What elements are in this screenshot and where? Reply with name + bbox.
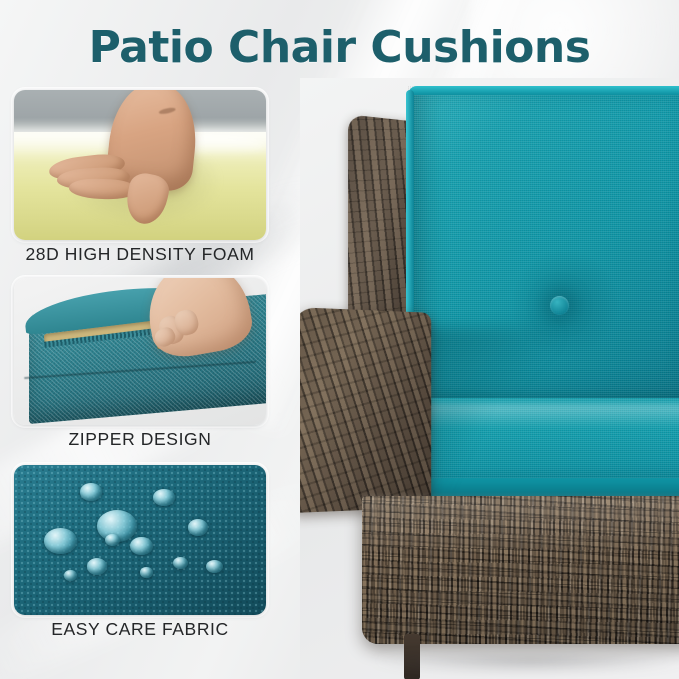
water-droplet (80, 483, 103, 501)
product-photo (300, 78, 679, 679)
tufted-button (550, 296, 569, 315)
floor-shadow (370, 653, 679, 673)
feature-card-high-density-foam (14, 90, 266, 240)
feature-card-zipper-design (14, 278, 266, 425)
water-droplet (188, 519, 208, 536)
chair-armrest (300, 307, 431, 513)
wrist-band (158, 107, 176, 116)
water-droplet (87, 558, 107, 575)
feature-image-water-repellent (14, 465, 266, 615)
feature-image-foam (14, 90, 266, 240)
water-droplet (44, 528, 77, 554)
water-droplet (206, 560, 224, 574)
water-droplet (153, 489, 176, 506)
water-droplet (105, 534, 120, 546)
infographic-canvas: Patio Chair Cushions 28D HIGH DENSITY FO… (0, 0, 679, 679)
feature-card-easy-care-fabric (14, 465, 266, 615)
feature-image-zipper (14, 278, 266, 425)
water-droplet (173, 557, 188, 569)
water-droplet (130, 537, 153, 555)
base-gloss (362, 496, 679, 556)
feature-caption-easy-care: EASY CARE FABRIC (0, 619, 280, 640)
feature-caption-zipper: ZIPPER DESIGN (0, 429, 280, 450)
water-droplet (140, 567, 153, 578)
page-title: Patio Chair Cushions (0, 18, 679, 78)
wicker-weave-texture (300, 307, 431, 513)
cushion-piping-top (408, 86, 679, 95)
feature-caption-foam: 28D HIGH DENSITY FOAM (0, 244, 280, 265)
water-droplet (64, 570, 77, 581)
